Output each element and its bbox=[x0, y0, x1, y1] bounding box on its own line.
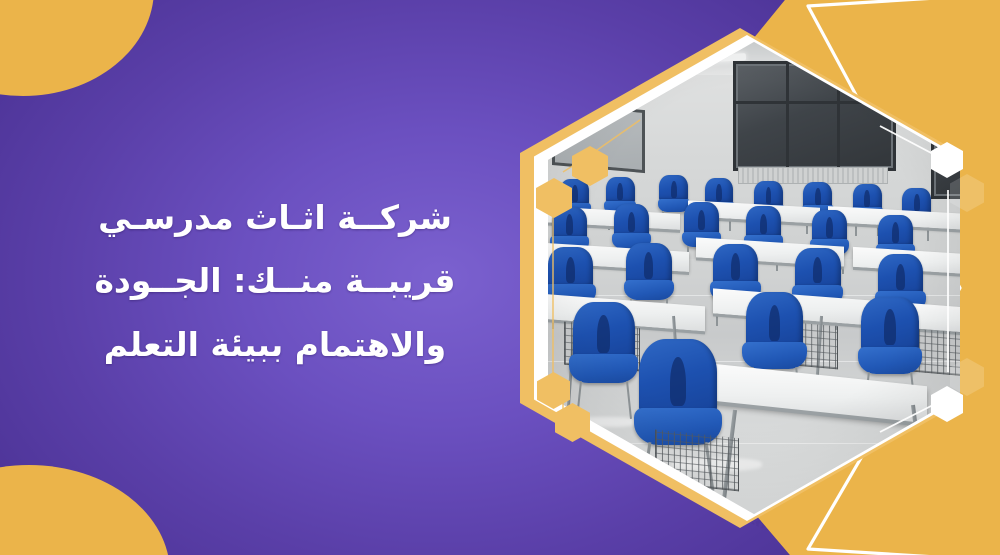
promo-banner: شركــة اثـاث مدرسـي قريبــة منــك: الجــ… bbox=[0, 0, 1000, 555]
headline-line-2: قريبــة منــك: الجــودة bbox=[60, 249, 490, 312]
headline-line-3: والاهتمام ببيئة التعلم bbox=[60, 313, 490, 376]
headline-line-1: شركــة اثـاث مدرسـي bbox=[60, 186, 490, 249]
headline: شركــة اثـاث مدرسـي قريبــة منــك: الجــ… bbox=[60, 186, 490, 376]
